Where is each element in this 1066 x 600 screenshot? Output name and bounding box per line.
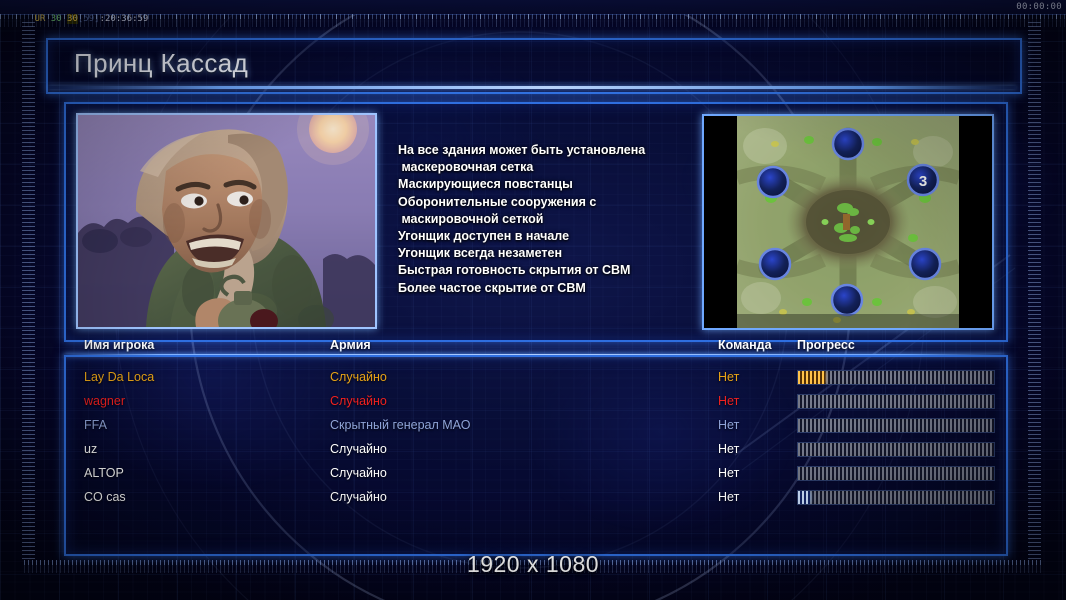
progress-bar-fill bbox=[798, 491, 810, 504]
game-lobby-screen: UR 30 30[59]:20:36:59 00:00:00 Принц Кас… bbox=[0, 0, 1066, 600]
cell-army: Случайно bbox=[330, 365, 387, 389]
table-row[interactable]: uzСлучайноНет bbox=[64, 437, 1004, 461]
cell-team: Нет bbox=[718, 365, 739, 389]
cell-player-name: wagner bbox=[84, 389, 125, 413]
header-progress: Прогресс bbox=[797, 338, 855, 352]
ability-line: Быстрая готовность скрытия от СВМ bbox=[398, 262, 698, 279]
progress-bar bbox=[797, 490, 995, 505]
progress-bar bbox=[797, 442, 995, 457]
table-row[interactable]: wagnerСлучайноНет bbox=[64, 389, 1004, 413]
general-portrait bbox=[76, 113, 377, 329]
portrait-image bbox=[78, 115, 375, 327]
table-row[interactable]: ALTOPСлучайноНет bbox=[64, 461, 1004, 485]
ability-line: маскеровочная сетка bbox=[398, 159, 698, 176]
player-rows: Lay Da LocaСлучайноНетwagnerСлучайноНетF… bbox=[64, 357, 1004, 550]
header-army: Армия bbox=[330, 338, 371, 352]
progress-bar-track bbox=[798, 419, 994, 432]
ruler-top bbox=[0, 14, 1066, 27]
cell-army: Скрытный генерал МАО bbox=[330, 413, 470, 437]
resolution-overlay: 1920 x 1080 bbox=[0, 551, 1066, 578]
top-status-bar: UR 30 30[59]:20:36:59 00:00:00 bbox=[0, 0, 1066, 15]
progress-bar bbox=[797, 394, 995, 409]
cell-team: Нет bbox=[718, 461, 739, 485]
table-row[interactable]: Lay Da LocaСлучайноНет bbox=[64, 365, 1004, 389]
cell-army: Случайно bbox=[330, 485, 387, 509]
table-row[interactable]: FFAСкрытный генерал МАОНет bbox=[64, 413, 1004, 437]
ability-line: Маскирующиеся повстанцы bbox=[398, 176, 698, 193]
map-terrain: 3 bbox=[737, 116, 959, 328]
progress-bar-track bbox=[798, 395, 994, 408]
cell-player-name: Lay Da Loca bbox=[84, 365, 154, 389]
cell-team: Нет bbox=[718, 437, 739, 461]
ability-line: На все здания может быть установлена bbox=[398, 142, 698, 159]
ability-line: Более частое скрытие от СВМ bbox=[398, 280, 698, 297]
ruler-left bbox=[22, 22, 35, 562]
cell-team: Нет bbox=[718, 389, 739, 413]
progress-bar bbox=[797, 418, 995, 433]
progress-bar-track bbox=[798, 443, 994, 456]
page-title: Принц Кассад bbox=[74, 48, 248, 79]
map-letterbox: 3 bbox=[704, 116, 992, 328]
cell-army: Случайно bbox=[330, 389, 387, 413]
general-abilities-list: На все здания может быть установлена мас… bbox=[398, 142, 698, 297]
progress-bar-track bbox=[798, 491, 994, 504]
ability-line: маскировочной сеткой bbox=[398, 211, 698, 228]
cell-team: Нет bbox=[718, 485, 739, 509]
progress-bar bbox=[797, 466, 995, 481]
cell-player-name: ALTOP bbox=[84, 461, 124, 485]
table-row[interactable]: CO casСлучайноНет bbox=[64, 485, 1004, 509]
game-timer: 00:00:00 bbox=[1016, 1, 1062, 13]
progress-bar-fill bbox=[798, 371, 825, 384]
cell-army: Случайно bbox=[330, 461, 387, 485]
cell-player-name: CO cas bbox=[84, 485, 126, 509]
cell-team: Нет bbox=[718, 413, 739, 437]
cell-player-name: FFA bbox=[84, 413, 107, 437]
ability-line: Угонщик всегда незаметен bbox=[398, 245, 698, 262]
progress-bar-track bbox=[798, 467, 994, 480]
cell-player-name: uz bbox=[84, 437, 97, 461]
header-player-name: Имя игрока bbox=[84, 338, 154, 352]
ruler-right bbox=[1028, 22, 1041, 562]
progress-bar-track bbox=[798, 371, 994, 384]
title-divider bbox=[48, 86, 1016, 89]
map-preview[interactable]: 3 bbox=[702, 114, 994, 330]
header-team: Команда bbox=[718, 338, 772, 352]
progress-bar bbox=[797, 370, 995, 385]
ability-line: Оборонительные сооружения с bbox=[398, 194, 698, 211]
ability-line: Угонщик доступен в начале bbox=[398, 228, 698, 245]
map-terrain-svg: 3 bbox=[737, 116, 959, 328]
cell-army: Случайно bbox=[330, 437, 387, 461]
